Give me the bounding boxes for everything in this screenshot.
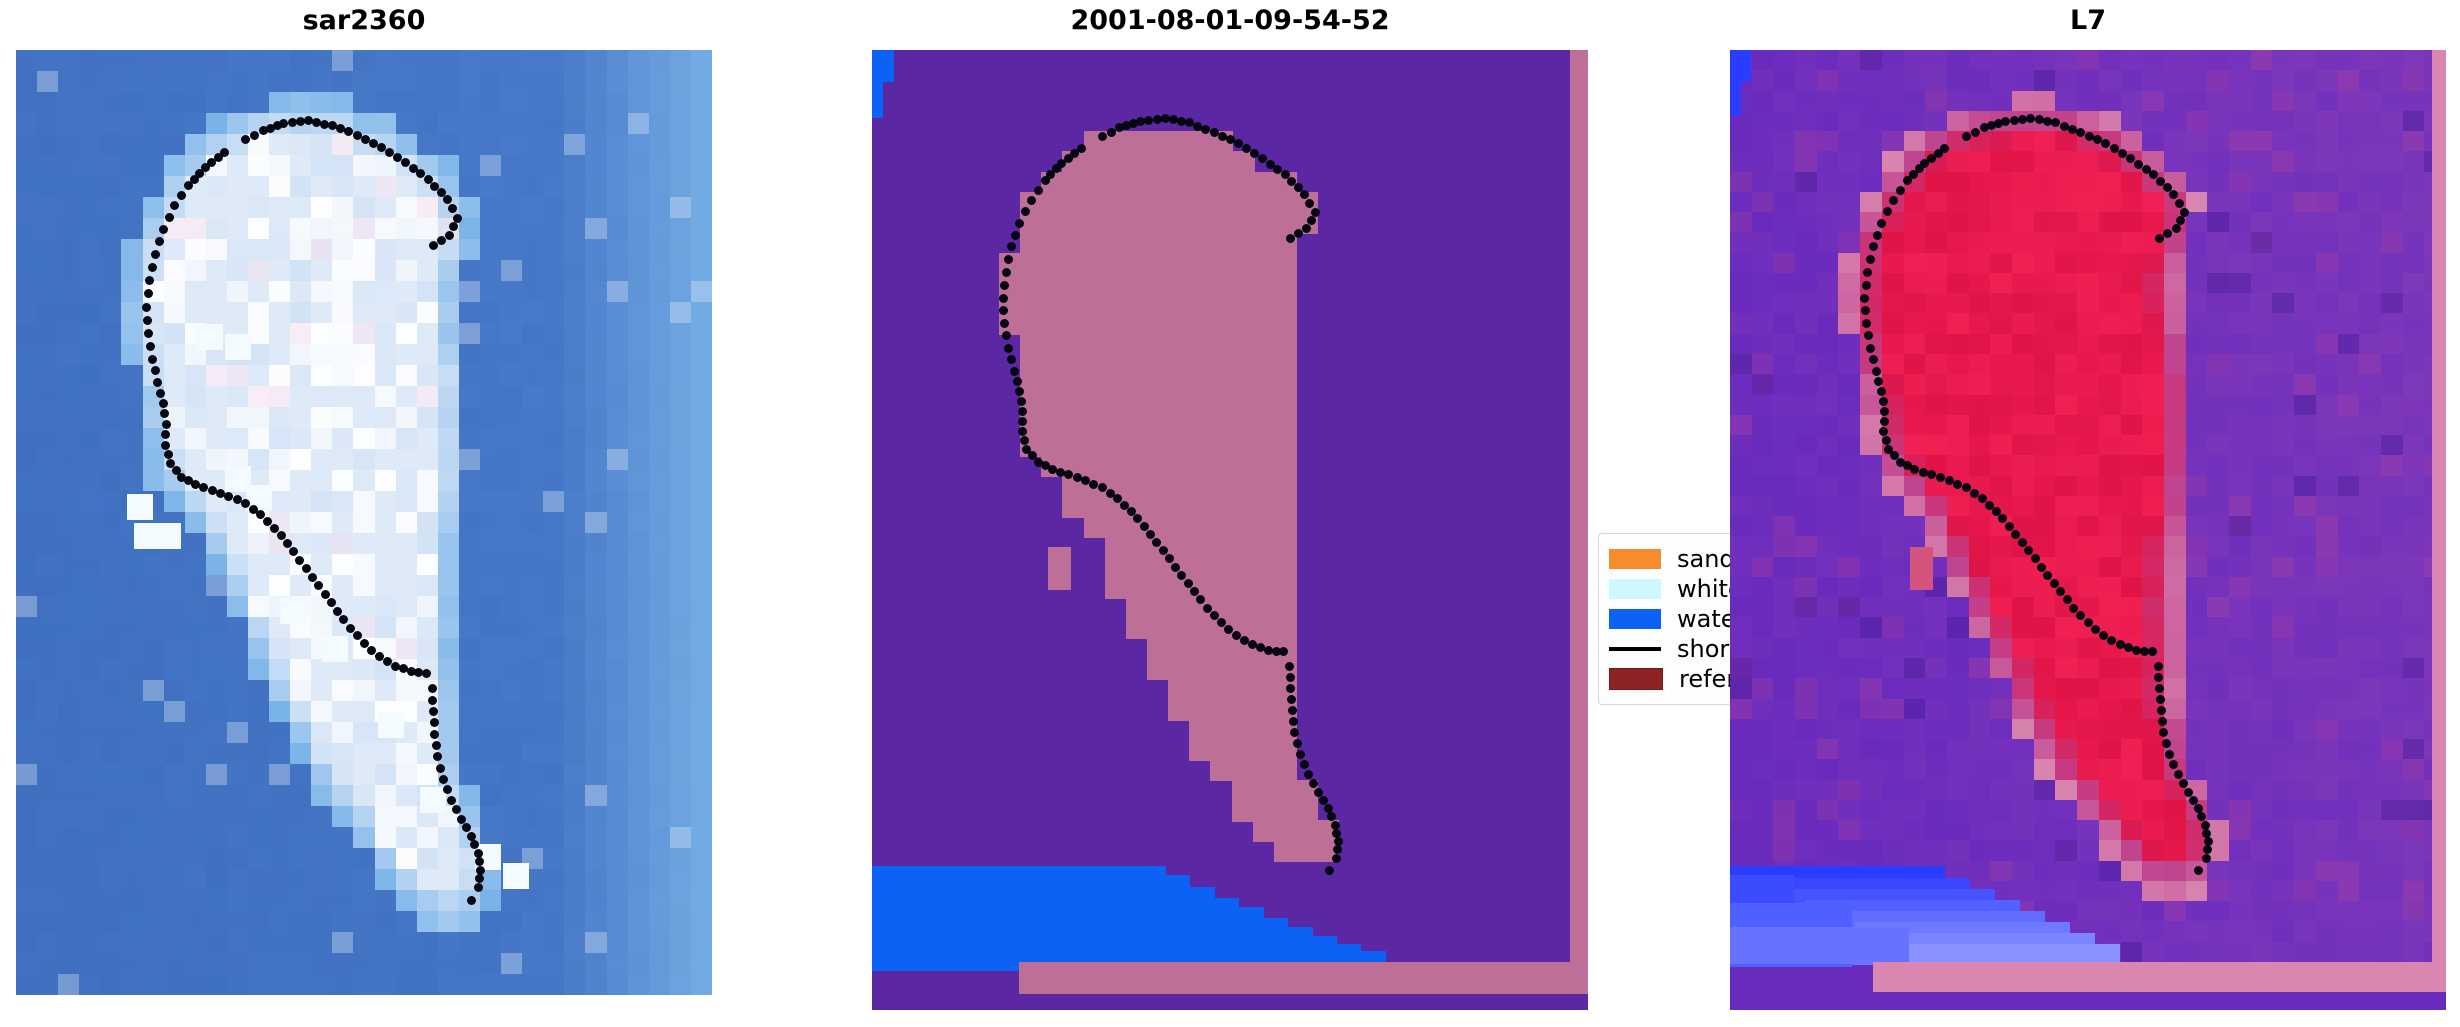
shoreline-dotted-overlay (16, 50, 712, 995)
legend-swatch-sand-icon (1609, 549, 1661, 569)
legend-item-sand[interactable]: sand (1609, 544, 1730, 574)
legend-label-shoreline: shoreli (1677, 637, 1730, 661)
legend-item-water[interactable]: water (1609, 604, 1730, 634)
shoreline-dotted-overlay (872, 50, 1588, 1010)
legend-label-whitewater: whitew (1677, 577, 1730, 601)
sar-image[interactable] (16, 50, 712, 995)
l7-image[interactable] (1730, 50, 2446, 1010)
panel-l7: L7 (1730, 0, 2460, 1027)
legend-item-reference[interactable]: referen (1609, 664, 1730, 694)
panel-sar2360: sar2360 (0, 0, 728, 1027)
panel-classified: 2001-08-01-09-54-52 (860, 0, 1600, 1027)
legend-swatch-reference-icon (1609, 668, 1663, 690)
legend-clip-region: sandwhitewwatershorelireferen (1598, 525, 1730, 715)
classified-image[interactable] (872, 50, 1588, 1010)
panel-title-classified: 2001-08-01-09-54-52 (872, 5, 1588, 36)
legend-swatch-whitewater-icon (1609, 579, 1661, 599)
panel-title-sar2360: sar2360 (16, 5, 712, 36)
legend-label-water: water (1677, 607, 1730, 631)
legend-item-whitewater[interactable]: whitew (1609, 574, 1730, 604)
legend-swatch-shoreline-icon (1609, 647, 1661, 651)
panel-title-l7: L7 (1730, 5, 2446, 36)
legend-item-shoreline[interactable]: shoreli (1609, 634, 1730, 664)
shoreline-dotted-overlay (1730, 50, 2446, 1010)
legend[interactable]: sandwhitewwatershorelireferen (1598, 533, 1730, 705)
legend-swatch-water-icon (1609, 609, 1661, 629)
legend-label-reference: referen (1679, 667, 1730, 691)
figure-canvas: sar2360 2001-08-01-09-54-52 L7 sandwhite… (0, 0, 2460, 1027)
legend-label-sand: sand (1677, 547, 1730, 571)
